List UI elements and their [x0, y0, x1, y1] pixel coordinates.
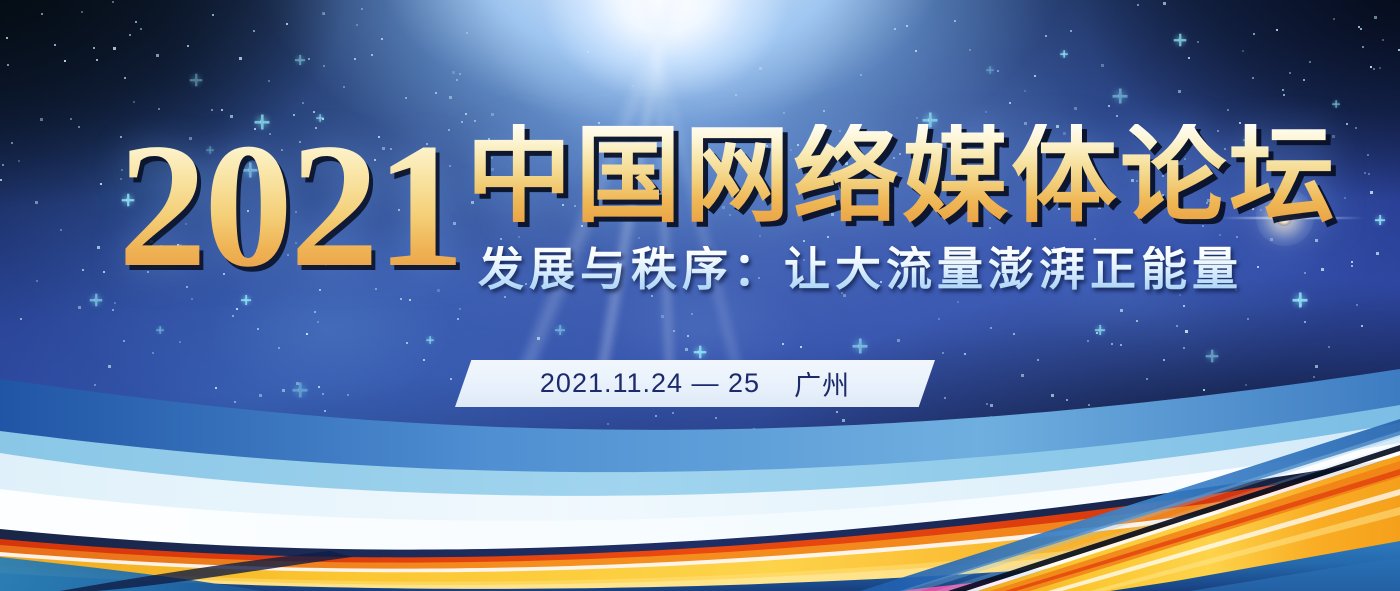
event-banner: 2021 中国网络媒体论坛 发展与秩序：让大流量澎湃正能量 2021.11.24…	[0, 0, 1400, 591]
page-subtitle: 发展与秩序：让大流量澎湃正能量	[478, 246, 1243, 292]
page-title: 中国网络媒体论坛	[466, 124, 1338, 230]
title-block: 2021 中国网络媒体论坛 发展与秩序：让大流量澎湃正能量	[0, 118, 1400, 288]
year-text: 2021	[118, 116, 462, 294]
wave-ribbons	[0, 361, 1400, 591]
